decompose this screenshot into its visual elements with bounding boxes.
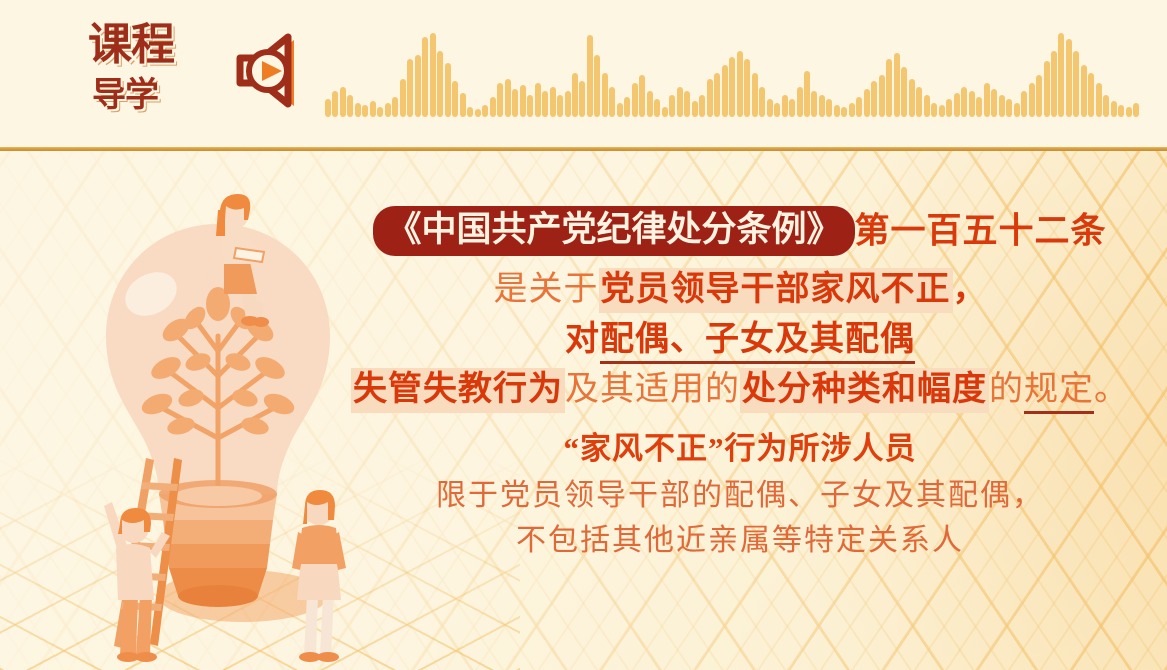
waveform-bar	[752, 73, 758, 117]
waveform-bar	[1066, 39, 1072, 117]
waveform-bar	[565, 91, 571, 117]
waveform-bar	[512, 89, 518, 117]
line3-underline-1: 配偶、	[600, 321, 705, 364]
waveform-bar	[527, 95, 533, 117]
body-line-2: 是关于党员领导干部家风不正，	[330, 273, 1150, 307]
waveform-bar	[1081, 65, 1087, 117]
waveform-bar	[609, 87, 615, 117]
line4-mid: 及其适用的	[565, 371, 740, 408]
waveform-bar	[811, 91, 817, 117]
line4-highlight-2: 处分种类和幅度	[740, 368, 989, 413]
infographic-page: 课程 导学	[0, 0, 1167, 670]
waveform-bar	[924, 95, 930, 117]
waveform-bar	[347, 95, 353, 117]
waveform-bar	[662, 107, 668, 117]
waveform-bar	[789, 99, 795, 117]
waveform-bar	[759, 87, 765, 117]
regulation-title-pill: 《中国共产党纪律处分条例》	[373, 206, 854, 256]
waveform-bar	[939, 105, 945, 117]
waveform-bar	[460, 93, 466, 117]
body-line-5: “家风不正”行为所涉人员	[330, 433, 1150, 464]
waveform-bar	[542, 91, 548, 117]
top-banner: 课程 导学	[0, 0, 1167, 147]
waveform-bar	[617, 103, 623, 117]
body-line-6: 限于党员领导干部的配偶、子女及其配偶，	[330, 481, 1150, 511]
waveform-bar	[826, 99, 832, 117]
waveform-bar	[594, 55, 600, 117]
waveform-bar	[490, 97, 496, 117]
waveform-bar	[639, 75, 645, 117]
waveform-bar	[482, 105, 488, 117]
waveform-bar	[362, 105, 368, 117]
waveform-bar	[722, 65, 728, 117]
waveform-bar	[677, 87, 683, 117]
waveform-bar	[767, 99, 773, 117]
article-number: 第一百五十二条	[855, 212, 1107, 251]
line4-highlight-1: 失管失教行为	[351, 368, 565, 413]
waveform-bar	[916, 87, 922, 117]
waveform-bar	[1118, 105, 1124, 117]
article-text-block: 《中国共产党纪律处分条例》第一百五十二条 是关于党员领导干部家风不正， 对配偶、…	[330, 206, 1150, 556]
waveform-bar	[1111, 101, 1117, 117]
waveform-bar	[1006, 99, 1012, 117]
waveform-bar	[856, 97, 862, 117]
waveform-bar	[729, 57, 735, 117]
waveform-bar	[422, 37, 428, 117]
waveform-bar	[430, 33, 436, 117]
waveform-bar	[1044, 61, 1050, 117]
waveform-bar	[946, 99, 952, 117]
line2-suffix: ，	[953, 271, 987, 308]
waveform-bar	[550, 87, 556, 117]
line4-period: 。	[1094, 371, 1129, 408]
waveform-bar	[445, 63, 451, 117]
waveform-bar	[954, 93, 960, 117]
waveform-bar	[415, 55, 421, 117]
waveform-bar	[1058, 33, 1064, 117]
waveform-bar	[1073, 51, 1079, 117]
waveform-bar	[834, 105, 840, 117]
waveform-bar	[392, 97, 398, 117]
line2-prefix: 是关于	[494, 271, 599, 308]
line3-prefix: 对	[565, 321, 600, 358]
audio-waveform	[325, 12, 1140, 117]
waveform-bar	[647, 91, 653, 117]
waveform-bar	[961, 87, 967, 117]
waveform-bar	[505, 79, 511, 117]
waveform-bar	[407, 59, 413, 117]
waveform-bar	[991, 89, 997, 117]
waveform-bar	[467, 107, 473, 117]
waveform-bar	[624, 97, 630, 117]
waveform-bar	[377, 107, 383, 117]
waveform-bar	[355, 103, 361, 117]
waveform-bar	[1088, 73, 1094, 117]
waveform-bar	[999, 95, 1005, 117]
waveform-bar	[864, 89, 870, 117]
logo-line-2: 导学	[92, 70, 198, 120]
waveform-bar	[684, 91, 690, 117]
waveform-bar	[976, 97, 982, 117]
waveform-bar	[707, 79, 713, 117]
logo-line-1: 课程	[88, 20, 198, 70]
waveform-bar	[909, 79, 915, 117]
waveform-bar	[497, 83, 503, 117]
heading-line: 《中国共产党纪律处分条例》第一百五十二条	[330, 206, 1150, 256]
waveform-bar	[325, 99, 331, 117]
waveform-bar	[475, 109, 481, 117]
waveform-bar	[370, 101, 376, 117]
waveform-bar	[744, 59, 750, 117]
waveform-bar	[1103, 95, 1109, 117]
waveform-bar	[901, 67, 907, 117]
waveform-bar	[797, 87, 803, 117]
waveform-bar	[1051, 51, 1057, 117]
waveform-bar	[879, 75, 885, 117]
waveform-bar	[632, 83, 638, 117]
waveform-bar	[520, 85, 526, 117]
waveform-bar	[849, 103, 855, 117]
waveform-bar	[871, 81, 877, 117]
waveform-bar	[1029, 83, 1035, 117]
waveform-bar	[557, 95, 563, 117]
waveform-bar	[437, 51, 443, 117]
waveform-bar	[714, 73, 720, 117]
waveform-bar	[669, 95, 675, 117]
megaphone-play-icon[interactable]	[222, 28, 312, 118]
waveform-bar	[452, 81, 458, 117]
waveform-bar	[400, 79, 406, 117]
waveform-bar	[572, 73, 578, 117]
waveform-bar	[737, 51, 743, 117]
waveform-bar	[535, 83, 541, 117]
body-line-3: 对配偶、子女及其配偶	[330, 323, 1150, 357]
waveform-bar	[1021, 91, 1027, 117]
waveform-bar	[692, 101, 698, 117]
waveform-bar	[969, 91, 975, 117]
waveform-bar	[931, 103, 937, 117]
waveform-bar	[894, 53, 900, 117]
body-line-4: 失管失教行为及其适用的处分种类和幅度的规定。	[330, 373, 1150, 407]
line2-highlight: 党员领导干部家风不正	[599, 268, 953, 313]
waveform-bar	[774, 103, 780, 117]
waveform-bar	[1036, 75, 1042, 117]
waveform-bar	[782, 95, 788, 117]
waveform-bar	[819, 95, 825, 117]
waveform-bar	[654, 99, 660, 117]
waveform-bar	[340, 87, 346, 117]
line4-tail-plain: 的	[989, 371, 1024, 408]
main-stage: 《中国共产党纪律处分条例》第一百五十二条 是关于党员领导干部家风不正， 对配偶、…	[0, 151, 1167, 670]
waveform-bar	[984, 83, 990, 117]
waveform-bar	[332, 91, 338, 117]
waveform-bar	[886, 59, 892, 117]
waveform-bar	[699, 95, 705, 117]
waveform-bar	[1126, 107, 1132, 117]
waveform-bar	[602, 73, 608, 117]
line3-underline-2: 子女及其配偶	[705, 321, 915, 364]
line4-tail-underline: 规定	[1024, 371, 1094, 414]
waveform-bar	[804, 71, 810, 117]
waveform-bar	[1014, 103, 1020, 117]
waveform-bar	[587, 35, 593, 117]
body-line-7: 不包括其他近亲属等特定关系人	[330, 526, 1150, 556]
waveform-bar	[385, 103, 391, 117]
waveform-bar	[1133, 103, 1139, 117]
waveform-bar	[1096, 83, 1102, 117]
waveform-bar	[579, 81, 585, 117]
waveform-bar	[841, 107, 847, 117]
course-guide-logo: 课程 导学	[88, 20, 198, 125]
